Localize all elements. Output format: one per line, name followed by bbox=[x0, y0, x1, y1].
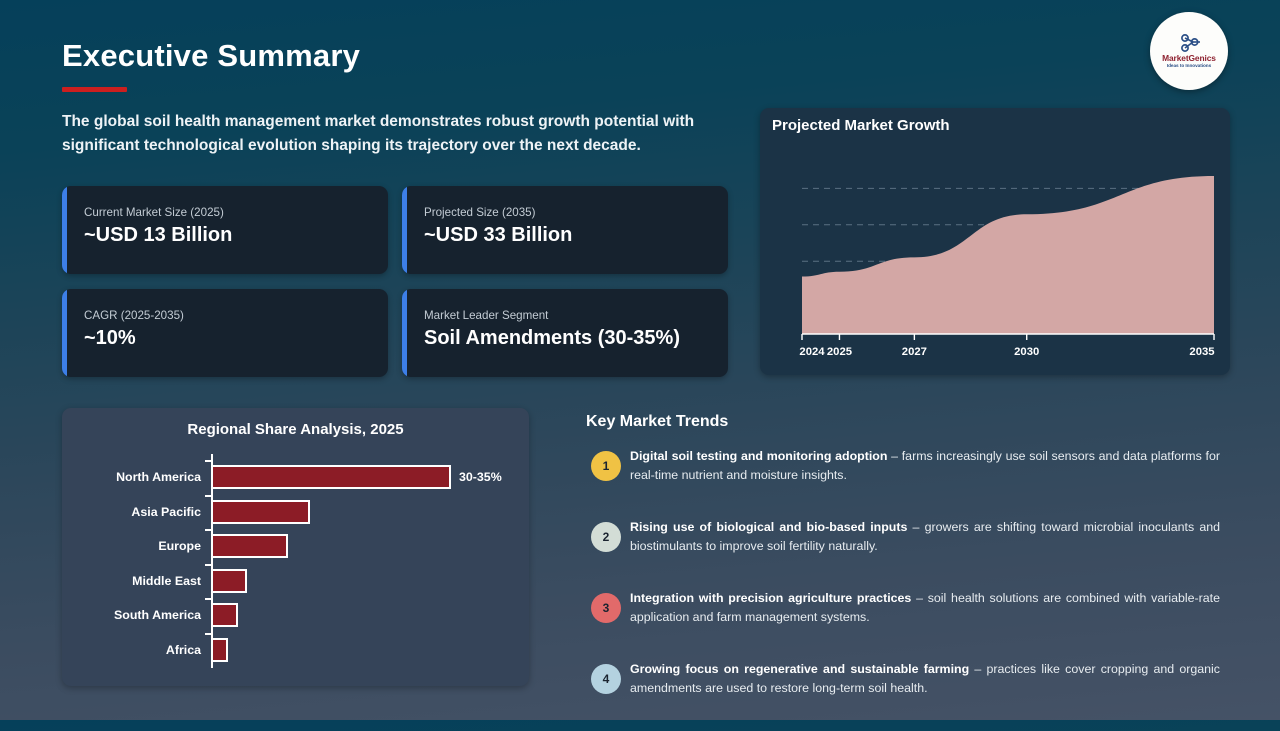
bar-fill bbox=[211, 465, 451, 489]
trends-list: 1Digital soil testing and monitoring ado… bbox=[586, 447, 1220, 731]
bar-track bbox=[211, 598, 529, 633]
trend-text: Growing focus on regenerative and sustai… bbox=[630, 660, 1220, 699]
bar-track: 30-35% bbox=[211, 460, 529, 495]
trend-item: 4Growing focus on regenerative and susta… bbox=[586, 660, 1220, 717]
bar-chart-rows: North America30-35%Asia PacificEuropeMid… bbox=[62, 460, 529, 667]
area-chart-svg bbox=[772, 146, 1218, 364]
kpi-label: CAGR (2025-2035) bbox=[84, 309, 184, 322]
trend-item: 2Rising use of biological and bio-based … bbox=[586, 518, 1220, 575]
growth-x-tick-label: 2024 bbox=[799, 346, 824, 358]
bar-fill bbox=[211, 638, 228, 662]
bar-axis-tick bbox=[205, 598, 212, 600]
kpi-label: Projected Size (2035) bbox=[424, 206, 536, 219]
bar-category-label: Africa bbox=[62, 643, 211, 657]
bar-track bbox=[211, 633, 529, 668]
bar-fill bbox=[211, 603, 238, 627]
growth-chart-title: Projected Market Growth bbox=[772, 117, 950, 134]
kpi-card-market-leader-segment: Market Leader Segment Soil Amendments (3… bbox=[402, 289, 728, 377]
bar-track bbox=[211, 564, 529, 599]
bar-value-label: 30-35% bbox=[459, 470, 502, 484]
kpi-card-projected-size: Projected Size (2035) ~USD 33 Billion bbox=[402, 186, 728, 274]
trend-lead: Rising use of biological and bio-based i… bbox=[630, 520, 907, 534]
network-nodes-icon bbox=[1176, 33, 1202, 53]
bar-fill bbox=[211, 534, 288, 558]
bar-axis-tick bbox=[205, 495, 212, 497]
bar-chart-row: Asia Pacific bbox=[62, 495, 529, 530]
kpi-card-current-market-size: Current Market Size (2025) ~USD 13 Billi… bbox=[62, 186, 388, 274]
growth-chart-plot bbox=[772, 146, 1218, 364]
trend-number-badge: 4 bbox=[591, 664, 621, 694]
kpi-value: ~USD 33 Billion bbox=[424, 224, 572, 247]
growth-x-tick-label: 2025 bbox=[827, 346, 852, 358]
kpi-card-cagr: CAGR (2025-2035) ~10% bbox=[62, 289, 388, 377]
projected-market-growth-panel: Projected Market Growth 2024202520272030… bbox=[760, 108, 1230, 375]
bar-chart-title: Regional Share Analysis, 2025 bbox=[62, 421, 529, 438]
bar-category-label: North America bbox=[62, 470, 211, 484]
bar-axis-tick bbox=[205, 633, 212, 635]
trend-item: 3Integration with precision agriculture … bbox=[586, 589, 1220, 646]
trend-lead: Digital soil testing and monitoring adop… bbox=[630, 449, 887, 463]
bar-track bbox=[211, 495, 529, 530]
bar-axis-tick bbox=[205, 529, 212, 531]
bar-axis-tick bbox=[205, 460, 212, 462]
slide-root: Executive Summary The global soil health… bbox=[0, 0, 1280, 720]
logo-tagline: Ideas to Innovations bbox=[1167, 64, 1211, 69]
bar-chart-row: Africa bbox=[62, 633, 529, 668]
trends-heading: Key Market Trends bbox=[586, 413, 728, 431]
page-subtitle: The global soil health management market… bbox=[62, 110, 752, 157]
growth-x-tick-label: 2035 bbox=[1189, 346, 1214, 358]
bar-chart-row: Europe bbox=[62, 529, 529, 564]
bar-category-label: South America bbox=[62, 608, 211, 622]
brand-logo: MarketGenics Ideas to Innovations bbox=[1150, 12, 1228, 90]
title-underline-rule bbox=[62, 87, 127, 92]
kpi-value: ~USD 13 Billion bbox=[84, 224, 232, 247]
trend-lead: Growing focus on regenerative and sustai… bbox=[630, 662, 969, 676]
bar-fill bbox=[211, 500, 310, 524]
kpi-label: Market Leader Segment bbox=[424, 309, 548, 322]
growth-x-tick-label: 2030 bbox=[1014, 346, 1039, 358]
bar-chart-row: South America bbox=[62, 598, 529, 633]
logo-name: MarketGenics bbox=[1162, 54, 1216, 62]
regional-share-panel: Regional Share Analysis, 2025 North Amer… bbox=[62, 408, 529, 686]
trend-number-badge: 1 bbox=[591, 451, 621, 481]
trend-lead: Integration with precision agriculture p… bbox=[630, 591, 911, 605]
trend-text: Digital soil testing and monitoring adop… bbox=[630, 447, 1220, 486]
trend-number-badge: 2 bbox=[591, 522, 621, 552]
bar-category-label: Middle East bbox=[62, 574, 211, 588]
growth-chart-x-axis: 20242025202720302035 bbox=[772, 346, 1218, 366]
bar-chart-row: North America30-35% bbox=[62, 460, 529, 495]
bar-axis-tick bbox=[205, 564, 212, 566]
growth-x-tick-label: 2027 bbox=[902, 346, 927, 358]
trend-item: 1Digital soil testing and monitoring ado… bbox=[586, 447, 1220, 504]
bar-track bbox=[211, 529, 529, 564]
kpi-value: ~10% bbox=[84, 327, 136, 350]
trend-text: Integration with precision agriculture p… bbox=[630, 589, 1220, 628]
trend-number-badge: 3 bbox=[591, 593, 621, 623]
bar-fill bbox=[211, 569, 247, 593]
bar-category-label: Europe bbox=[62, 539, 211, 553]
trend-text: Rising use of biological and bio-based i… bbox=[630, 518, 1220, 557]
bar-category-label: Asia Pacific bbox=[62, 505, 211, 519]
bar-chart-row: Middle East bbox=[62, 564, 529, 599]
page-title: Executive Summary bbox=[62, 38, 360, 74]
kpi-label: Current Market Size (2025) bbox=[84, 206, 224, 219]
kpi-value: Soil Amendments (30-35%) bbox=[424, 327, 680, 350]
